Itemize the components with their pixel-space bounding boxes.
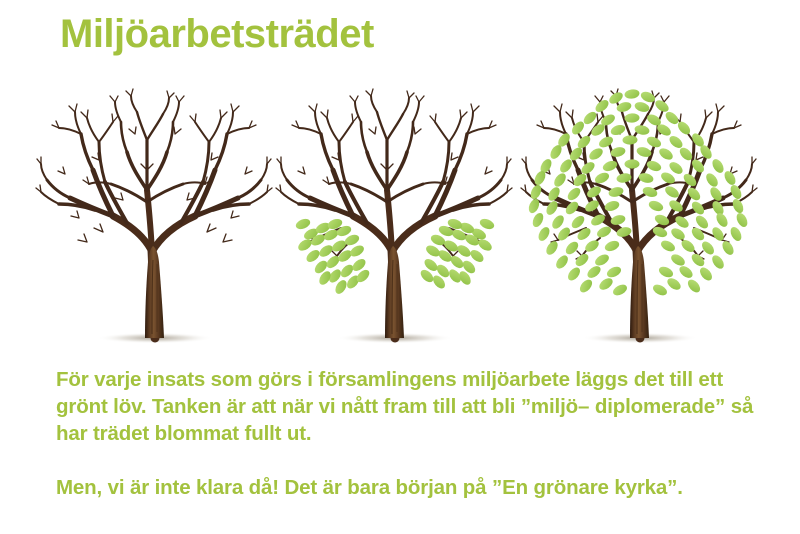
tree-illustration-group [0,82,800,354]
trunk [145,246,164,338]
tree-bare [35,82,275,354]
tree-full [520,82,760,354]
poster-page: Miljöarbetsträdet [0,0,800,534]
page-title: Miljöarbetsträdet [60,12,374,56]
trunk [630,246,649,338]
body-copy: För varje insats som görs i församlingen… [56,366,756,501]
tree-partial [275,82,515,354]
paragraph-two: Men, vi är inte klara då! Det är bara bö… [56,474,756,501]
paragraph-one: För varje insats som görs i församlingen… [56,366,756,447]
trunk [385,246,404,338]
